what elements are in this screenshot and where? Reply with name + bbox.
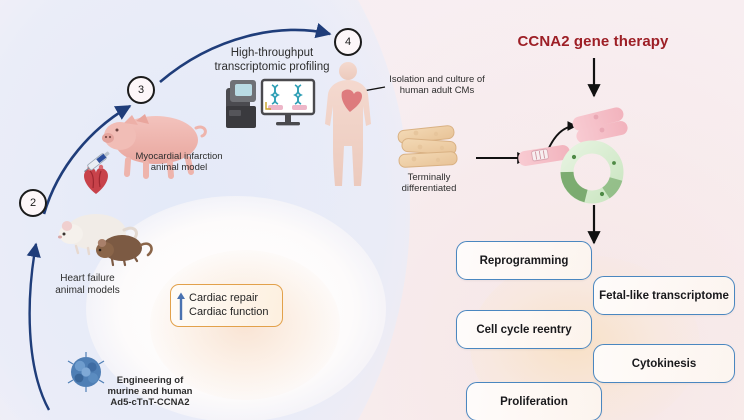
- profiling-line-2: transcriptomic profiling: [206, 61, 338, 75]
- heart-failure-line-2: animal models: [35, 285, 140, 297]
- terminally-line-2: differentiated: [386, 183, 472, 194]
- profiling-line-1: High-throughput: [206, 47, 338, 61]
- isolation-culture-label: Isolation and culture of human adult CMs: [380, 74, 494, 96]
- terminally-differentiated-label: Terminally differentiated: [386, 172, 472, 194]
- cardiac-line-1: Cardiac repair: [189, 292, 269, 306]
- step-circle-3[interactable]: 3: [127, 76, 155, 104]
- up-arrow-icon: [176, 291, 186, 321]
- outcome-box-cell-cycle-reentry[interactable]: Cell cycle reentry: [456, 310, 592, 349]
- engineering-line-3: Ad5-cTnT-CCNA2: [90, 397, 210, 408]
- cardiac-repair-callout: Cardiac repair Cardiac function: [170, 284, 283, 327]
- outcome-box-fetal-like-transcriptome[interactable]: Fetal-like transcriptome: [593, 276, 735, 315]
- myocardial-line-2: animal model: [120, 162, 238, 173]
- step-circle-4[interactable]: 4: [334, 28, 362, 56]
- myocardial-line-1: Myocardial infarction: [120, 151, 238, 162]
- figure-canvas: 2 3 4 High-throughput transcriptomic pro…: [0, 0, 744, 420]
- isolation-line-2: human adult CMs: [380, 85, 494, 96]
- outcome-box-cytokinesis[interactable]: Cytokinesis: [593, 344, 735, 383]
- ccna2-gene-therapy-title: CCNA2 gene therapy: [508, 33, 678, 50]
- outcome-box-reprogramming[interactable]: Reprogramming: [456, 241, 592, 280]
- engineering-line-1: Engineering of: [90, 375, 210, 386]
- outcome-box-proliferation[interactable]: Proliferation: [466, 382, 602, 420]
- step-circle-2[interactable]: 2: [19, 189, 47, 217]
- heart-failure-models-label: Heart failure animal models: [35, 273, 140, 297]
- engineering-line-2: murine and human: [90, 386, 210, 397]
- heart-failure-line-1: Heart failure: [35, 273, 140, 285]
- terminally-line-1: Terminally: [386, 172, 472, 183]
- high-throughput-profiling-label: High-throughput transcriptomic profiling: [206, 47, 338, 74]
- isolation-line-1: Isolation and culture of: [380, 74, 494, 85]
- engineering-ad5-label: Engineering of murine and human Ad5-cTnT…: [90, 375, 210, 409]
- cardiac-line-2: Cardiac function: [189, 306, 269, 320]
- cardiac-repair-text: Cardiac repair Cardiac function: [189, 292, 269, 320]
- myocardial-infarction-label: Myocardial infarction animal model: [120, 151, 238, 173]
